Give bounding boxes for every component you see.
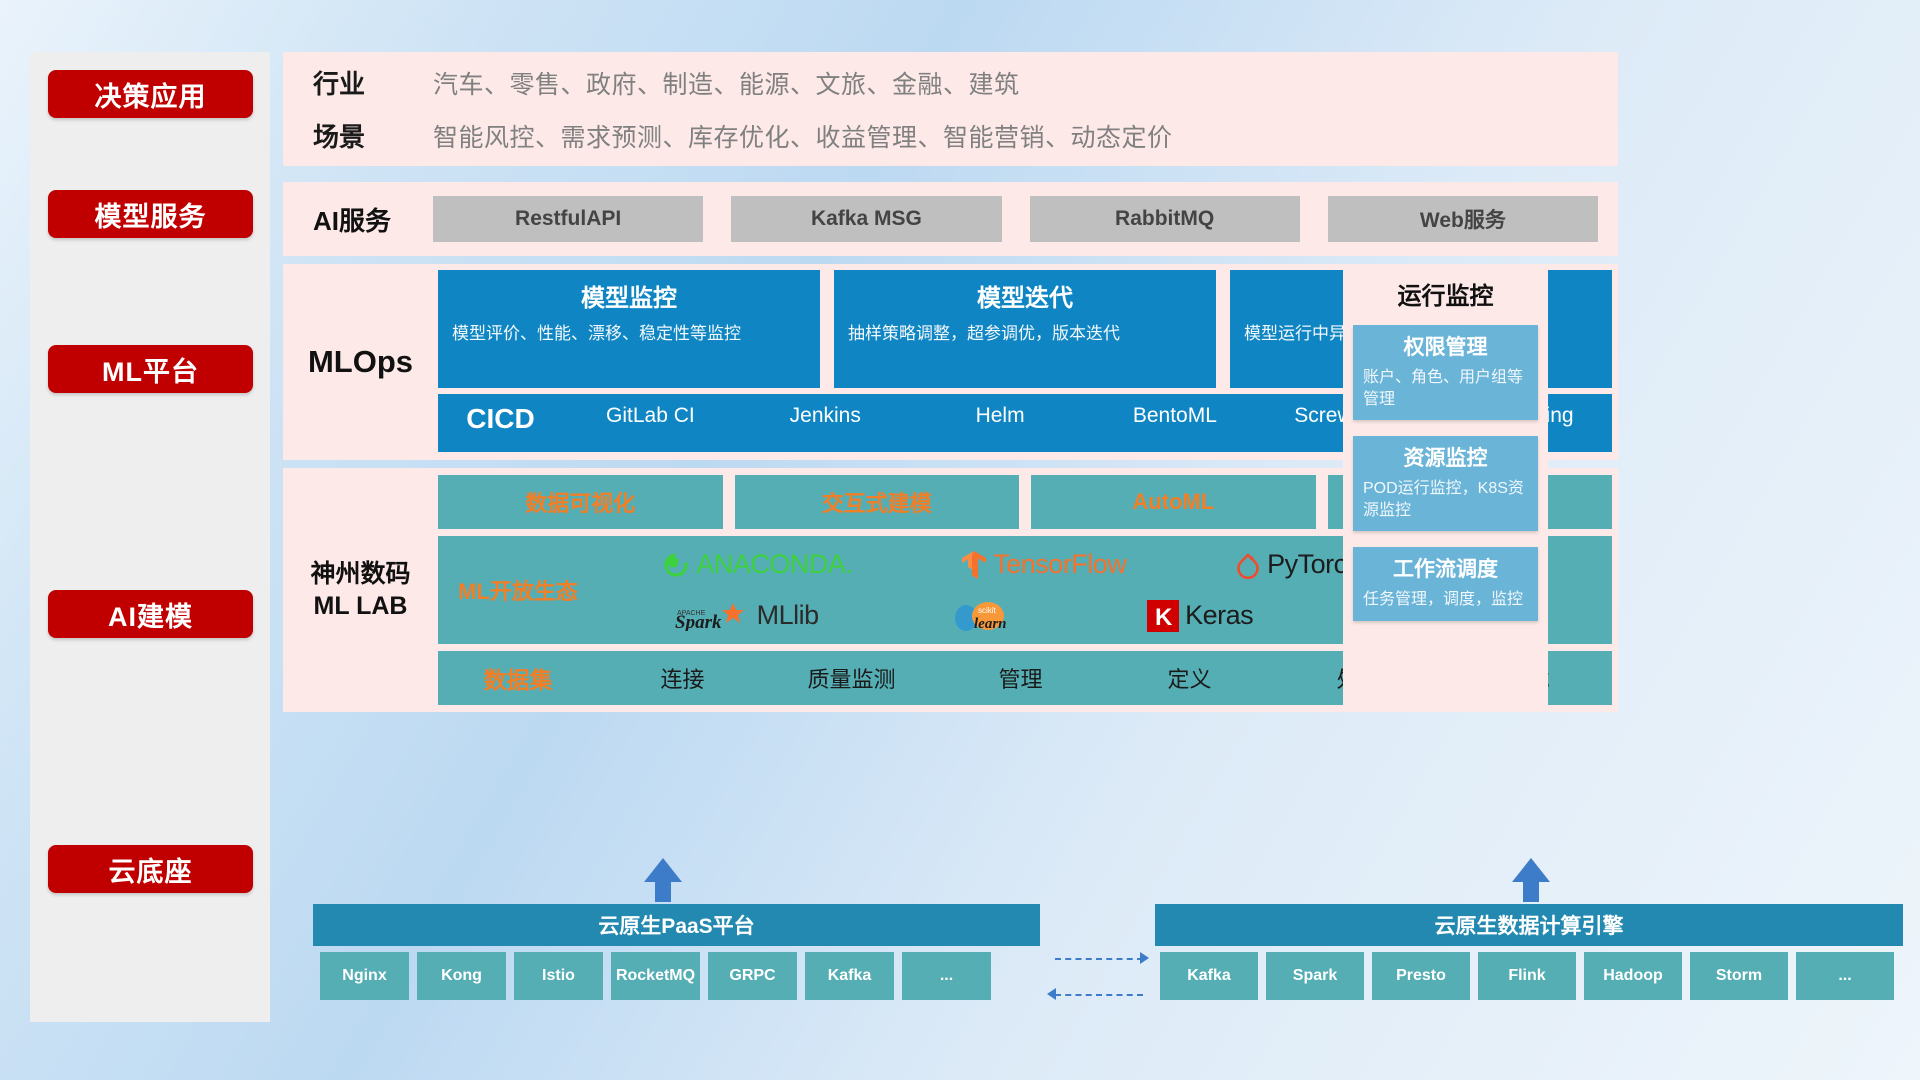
chip-presto[interactable]: Presto (1372, 952, 1470, 1000)
cicd-item-bentoml[interactable]: BentoML (1087, 403, 1262, 429)
monitoring-title: 运行监控 (1353, 276, 1538, 311)
stage-label: 决策应用 (95, 75, 207, 114)
interconnect-dashed-line-top (1055, 958, 1143, 960)
tool-box-interactive-modeling[interactable]: 交互式建模 (735, 475, 1020, 529)
monitoring-column: 运行监控 权限管理 账户、角色、用户组等管理 资源监控 POD运行监控，K8S资… (1343, 264, 1548, 712)
industry-row: 行业 汽车、零售、政府、制造、能源、文旅、金融、建筑 (313, 64, 1618, 101)
paas-arrow-stem (655, 880, 671, 902)
application-band: 行业 汽车、零售、政府、制造、能源、文旅、金融、建筑 场景 智能风控、需求预测、… (283, 52, 1618, 166)
card-title: 工作流调度 (1363, 553, 1528, 583)
interconnect-arrow-right-icon (1140, 952, 1149, 964)
anaconda-wordmark: ANACONDA. (696, 549, 852, 580)
card-desc: 账户、角色、用户组等管理 (1363, 367, 1528, 410)
stage-pill-ai-modeling[interactable]: AI建模 (48, 590, 253, 638)
service-box-restfulapi[interactable]: RestfulAPI (433, 196, 703, 242)
cicd-item-gitlab-ci[interactable]: GitLab CI (563, 403, 738, 429)
interconnect-arrow-left-icon (1047, 988, 1056, 1000)
service-box-web[interactable]: Web服务 (1328, 196, 1598, 242)
chip-more-engine[interactable]: ... (1796, 952, 1894, 1000)
stage-label: AI建模 (108, 595, 193, 634)
tool-box-automl[interactable]: AutoML (1031, 475, 1316, 529)
dataset-item-quality[interactable]: 质量监测 (767, 662, 936, 694)
ml-lab-label: 神州数码 ML LAB (283, 468, 438, 712)
stage-pill-model-service[interactable]: 模型服务 (48, 190, 253, 238)
tensorflow-logo: TensorFlow (961, 549, 1126, 580)
card-desc: 抽样策略调整，超参调优，版本迭代 (848, 322, 1202, 345)
chip-grpc[interactable]: GRPC (708, 952, 797, 1000)
tensorflow-mark-icon (961, 550, 987, 580)
svg-text:learn: learn (974, 616, 1007, 632)
paas-platform-title: 云原生PaaS平台 (598, 910, 754, 940)
dataset-item-define[interactable]: 定义 (1105, 662, 1274, 694)
cicd-title: CICD (438, 403, 563, 435)
ai-service-band: AI服务 RestfulAPI Kafka MSG RabbitMQ Web服务 (283, 182, 1618, 256)
ml-ecosystem-label: ML开放生态 (438, 574, 598, 606)
chip-flink[interactable]: Flink (1478, 952, 1576, 1000)
stage-label: ML平台 (102, 350, 199, 389)
ml-lab-label-line1: 神州数码 (310, 558, 410, 591)
scenario-label: 场景 (313, 117, 433, 154)
paas-chip-row: Nginx Kong Istio RocketMQ GRPC Kafka ... (320, 952, 1033, 1000)
chip-istio[interactable]: Istio (514, 952, 603, 1000)
scenario-row: 场景 智能风控、需求预测、库存优化、收益管理、智能营销、动态定价 (313, 117, 1618, 154)
stage-pill-cloud-base[interactable]: 云底座 (48, 845, 253, 893)
spark-mark-icon: APACHE Spark (675, 601, 751, 631)
scenario-values: 智能风控、需求预测、库存优化、收益管理、智能营销、动态定价 (433, 118, 1173, 154)
engine-arrow-head-icon (1512, 858, 1550, 882)
chip-spark[interactable]: Spark (1266, 952, 1364, 1000)
service-box-rabbitmq[interactable]: RabbitMQ (1030, 196, 1300, 242)
chip-rocketmq[interactable]: RocketMQ (611, 952, 700, 1000)
data-engine-bar[interactable]: 云原生数据计算引擎 (1155, 904, 1903, 946)
chip-kafka-engine[interactable]: Kafka (1160, 952, 1258, 1000)
chip-nginx[interactable]: Nginx (320, 952, 409, 1000)
engine-arrow-stem (1523, 880, 1539, 902)
scikit-learn-logo: scikit learn (952, 599, 1014, 633)
tool-box-data-visualization[interactable]: 数据可视化 (438, 475, 723, 529)
dataset-title: 数据集 (438, 661, 598, 695)
cicd-item-helm[interactable]: Helm (913, 403, 1088, 429)
mlops-card-model-monitor[interactable]: 模型监控 模型评价、性能、漂移、稳定性等监控 (438, 270, 820, 388)
chip-kong[interactable]: Kong (417, 952, 506, 1000)
keras-logo: K Keras (1147, 600, 1253, 632)
card-desc: 模型评价、性能、漂移、稳定性等监控 (452, 322, 806, 345)
paas-platform-bar[interactable]: 云原生PaaS平台 (313, 904, 1040, 946)
cicd-item-jenkins[interactable]: Jenkins (738, 403, 913, 429)
stage-label: 模型服务 (95, 195, 207, 234)
chip-more[interactable]: ... (902, 952, 991, 1000)
card-title: 权限管理 (1363, 331, 1528, 361)
monitor-card-workflow[interactable]: 工作流调度 任务管理，调度，监控 (1353, 547, 1538, 621)
stage-column: 决策应用 模型服务 ML平台 AI建模 云底座 (30, 52, 270, 1022)
stage-label: 云底座 (109, 850, 193, 889)
monitor-card-permission[interactable]: 权限管理 账户、角色、用户组等管理 (1353, 325, 1538, 420)
stage-pill-ml-platform[interactable]: ML平台 (48, 345, 253, 393)
chip-hadoop[interactable]: Hadoop (1584, 952, 1682, 1000)
tensorflow-wordmark: TensorFlow (993, 549, 1126, 580)
engine-chip-row: Kafka Spark Presto Flink Hadoop Storm ..… (1160, 952, 1903, 1000)
keras-mark-icon: K (1147, 600, 1179, 632)
service-box-kafka-msg[interactable]: Kafka MSG (731, 196, 1001, 242)
keras-wordmark: Keras (1185, 600, 1253, 631)
monitor-card-resource[interactable]: 资源监控 POD运行监控，K8S资源监控 (1353, 436, 1538, 531)
ml-lab-label-line2: ML LAB (314, 590, 408, 623)
industry-label: 行业 (313, 64, 433, 101)
paas-arrow-head-icon (644, 858, 682, 882)
card-title: 模型迭代 (848, 278, 1202, 313)
chip-kafka[interactable]: Kafka (805, 952, 894, 1000)
spark-mllib-logo: APACHE Spark MLlib (675, 600, 819, 631)
anaconda-mark-icon (662, 551, 690, 579)
data-engine-title: 云原生数据计算引擎 (1435, 910, 1624, 940)
mllib-wordmark: MLlib (757, 600, 819, 631)
card-desc: POD运行监控，K8S资源监控 (1363, 478, 1528, 521)
mlops-card-model-iteration[interactable]: 模型迭代 抽样策略调整，超参调优，版本迭代 (834, 270, 1216, 388)
chip-storm[interactable]: Storm (1690, 952, 1788, 1000)
mlops-label: MLOps (283, 264, 438, 460)
svg-text:scikit: scikit (978, 606, 997, 615)
card-desc: 任务管理，调度，监控 (1363, 589, 1528, 611)
ai-service-label: AI服务 (283, 201, 433, 238)
dataset-item-manage[interactable]: 管理 (936, 662, 1105, 694)
industry-values: 汽车、零售、政府、制造、能源、文旅、金融、建筑 (433, 65, 1020, 101)
svg-text:K: K (1155, 604, 1173, 631)
svg-text:Spark: Spark (675, 612, 722, 631)
stage-pill-decision[interactable]: 决策应用 (48, 70, 253, 118)
pytorch-mark-icon (1235, 551, 1261, 579)
dataset-item-connect[interactable]: 连接 (598, 662, 767, 694)
anaconda-logo: ANACONDA. (662, 549, 852, 580)
scikit-mark-icon: scikit learn (952, 599, 1014, 633)
card-title: 模型监控 (452, 278, 806, 313)
interconnect-dashed-line-bottom (1055, 994, 1143, 996)
card-title: 资源监控 (1363, 442, 1528, 472)
